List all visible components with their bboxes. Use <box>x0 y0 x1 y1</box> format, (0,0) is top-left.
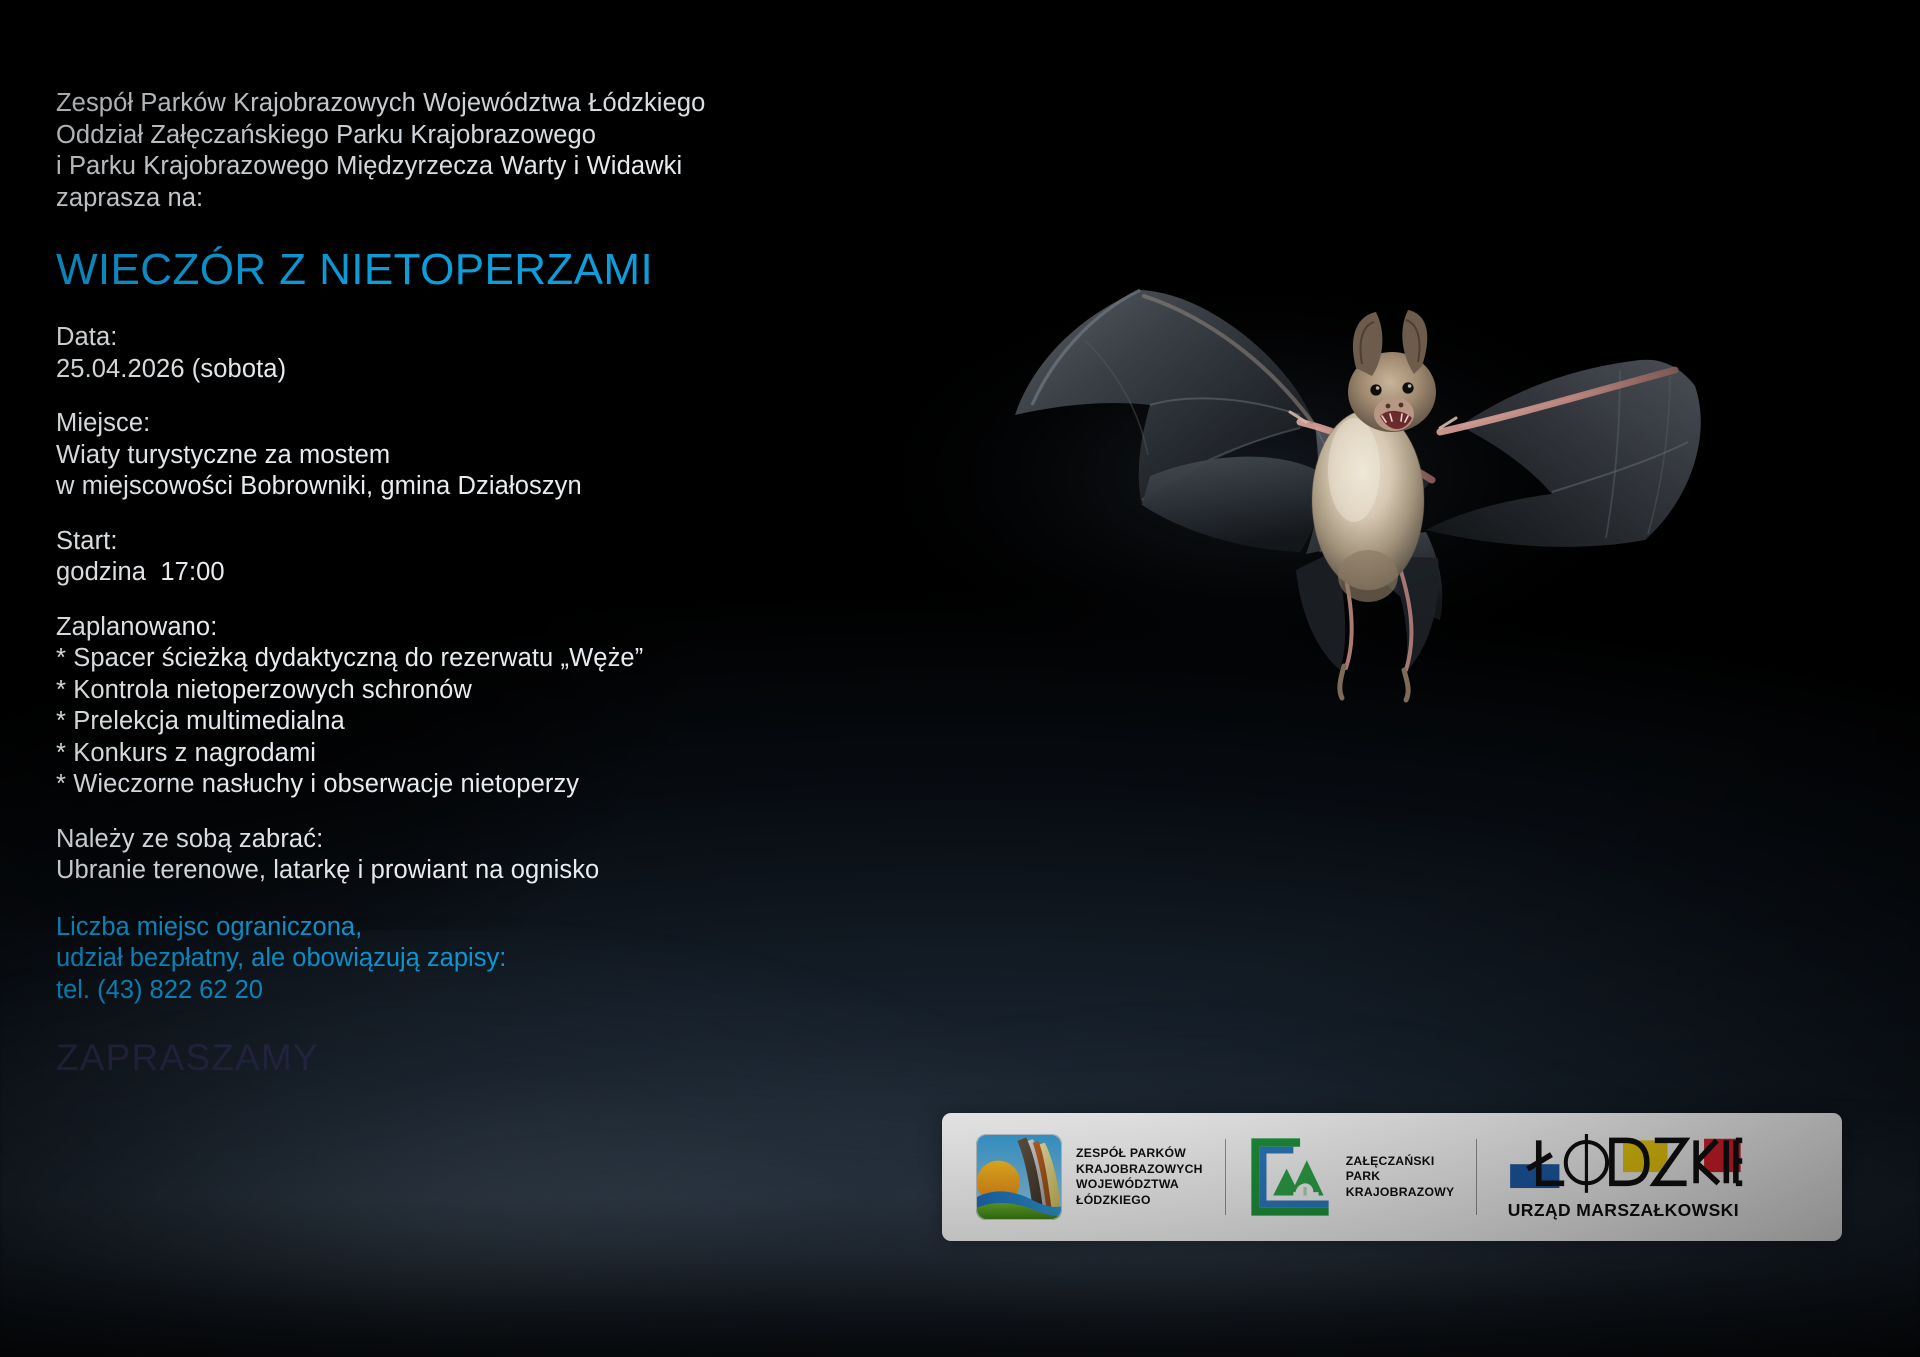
logo-zaleczanski-label: ZAŁĘCZAŃSKI PARK KRAJOBRAZOWY <box>1346 1154 1455 1201</box>
section-zaplanowano: Zaplanowano: * Spacer ścieżką dydaktyczn… <box>56 612 756 801</box>
logo-lodzkie-subtitle: URZĄD MARSZAŁKOWSKI <box>1508 1200 1739 1221</box>
section-zabrac: Należy ze sobą zabrać: Ubranie terenowe,… <box>56 824 756 887</box>
poster-canvas: Zespół Parków Krajobrazowych Województwa… <box>0 0 1920 1357</box>
section-miejsce: Miejsce: Wiaty turystyczne za mostem w m… <box>56 408 756 503</box>
lodzkie-wordmark-icon <box>1503 1134 1743 1196</box>
poster-text-column: Zespół Parków Krajobrazowych Województwa… <box>56 88 756 1080</box>
logo-lodzkie: URZĄD MARSZAŁKOWSKI <box>1477 1113 1765 1241</box>
list-item: * Prelekcja multimedialna <box>56 706 756 738</box>
section-miejsce-label: Miejsce: <box>56 408 756 440</box>
list-item: * Wieczorne nasłuchy i obserwacje nietop… <box>56 769 756 801</box>
section-start-value: godzina 17:00 <box>56 557 756 589</box>
list-item: * Kontrola nietoperzowych schronów <box>56 675 756 707</box>
section-data: Data: 25.04.2026 (sobota) <box>56 322 756 385</box>
logo-zaleczanski: ZAŁĘCZAŃSKI PARK KRAJOBRAZOWY <box>1226 1113 1477 1241</box>
list-item: * Konkurs z nagrodami <box>56 738 756 770</box>
zpk-emblem-icon <box>976 1134 1062 1220</box>
section-data-value: 25.04.2026 (sobota) <box>56 354 756 386</box>
section-data-label: Data: <box>56 322 756 354</box>
closing-text: ZAPRASZAMY <box>56 1036 756 1080</box>
plan-label: Zaplanowano: <box>56 612 756 644</box>
list-item: * Spacer ścieżką dydaktyczną do rezerwat… <box>56 643 756 675</box>
bat-photo <box>740 200 1800 720</box>
logo-zpk: ZESPÓŁ PARKÓW KRAJOBRAZOWYCH WOJEWÓDZTWA… <box>942 1113 1225 1241</box>
logo-zpk-label: ZESPÓŁ PARKÓW KRAJOBRAZOWYCH WOJEWÓDZTWA… <box>1076 1146 1203 1208</box>
zaleczanski-emblem-icon <box>1248 1135 1332 1219</box>
page-title: WIECZÓR Z NIETOPERZAMI <box>56 244 756 296</box>
section-start-label: Start: <box>56 526 756 558</box>
section-miejsce-value: Wiaty turystyczne za mostem w miejscowoś… <box>56 440 756 503</box>
bring-value: Ubranie terenowe, latarkę i prowiant na … <box>56 855 756 887</box>
logo-bar: ZESPÓŁ PARKÓW KRAJOBRAZOWYCH WOJEWÓDZTWA… <box>942 1113 1842 1241</box>
bring-label: Należy ze sobą zabrać: <box>56 824 756 856</box>
contact-block: Liczba miejsc ograniczona, udział bezpła… <box>56 912 756 1007</box>
organizer-block: Zespół Parków Krajobrazowych Województwa… <box>56 88 756 214</box>
section-start: Start: godzina 17:00 <box>56 526 756 589</box>
